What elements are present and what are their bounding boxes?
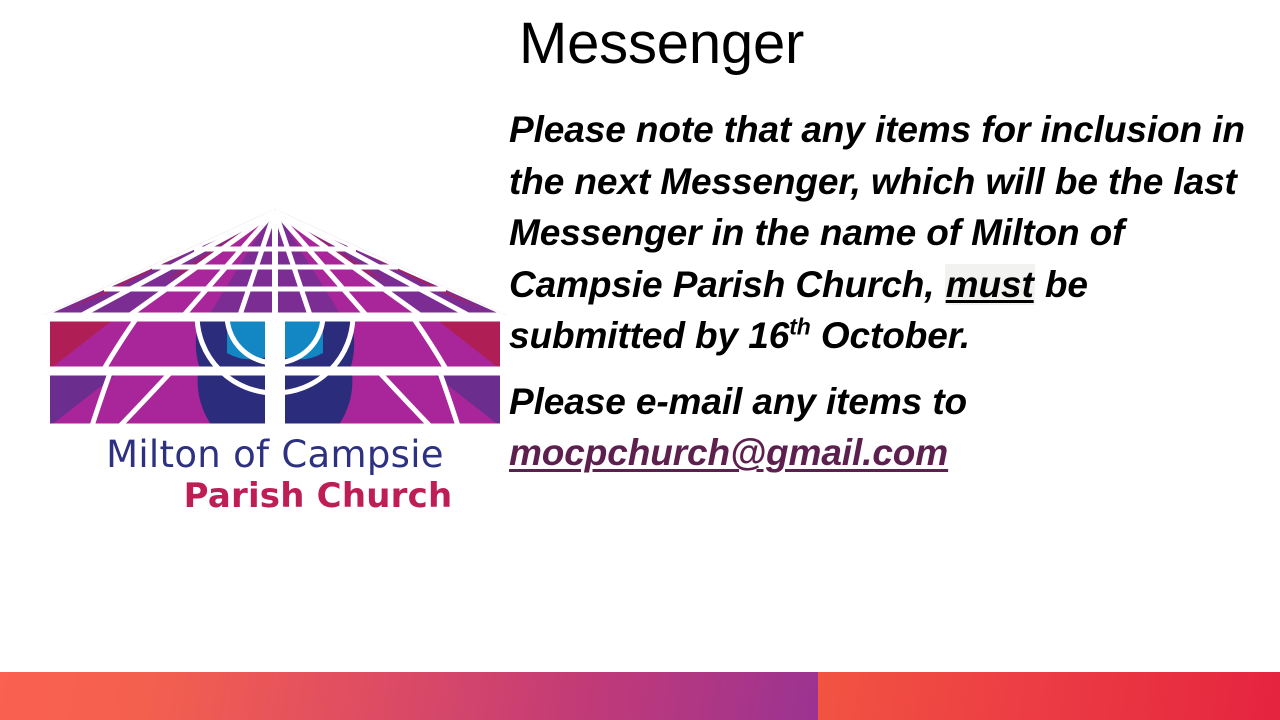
ordinal-superscript: th	[789, 314, 810, 340]
footer-accent-bar-right	[818, 672, 1280, 720]
paragraph-1-part-3: October.	[811, 315, 970, 356]
logo-wordmark: Milton of Campsie Parish Church	[44, 436, 506, 513]
slide-canvas: Messenger	[0, 0, 1280, 720]
paragraph-messenger-deadline: Please note that any items for inclusion…	[509, 104, 1249, 362]
footer-accent-bar	[0, 672, 1280, 720]
emphasis-must: must	[945, 264, 1035, 305]
church-logo: Milton of Campsie Parish Church	[44, 203, 506, 513]
page-title: Messenger	[519, 13, 804, 76]
paragraph-1-part-1: Please note that any items for inclusion…	[509, 109, 1245, 305]
footer-accent-bar-left	[0, 672, 818, 720]
logo-wordmark-line-1: Milton of Campsie	[44, 436, 506, 473]
body-copy: Please note that any items for inclusion…	[509, 104, 1249, 479]
logo-wordmark-line-2: Parish Church	[44, 479, 506, 513]
church-logo-mark-icon	[44, 203, 506, 430]
email-link[interactable]: mocpchurch@gmail.com	[509, 432, 948, 473]
paragraph-email-instruction: Please e-mail any items to mocpchurch@gm…	[509, 376, 1249, 479]
paragraph-2-part-1: Please e-mail any items to	[509, 381, 967, 422]
